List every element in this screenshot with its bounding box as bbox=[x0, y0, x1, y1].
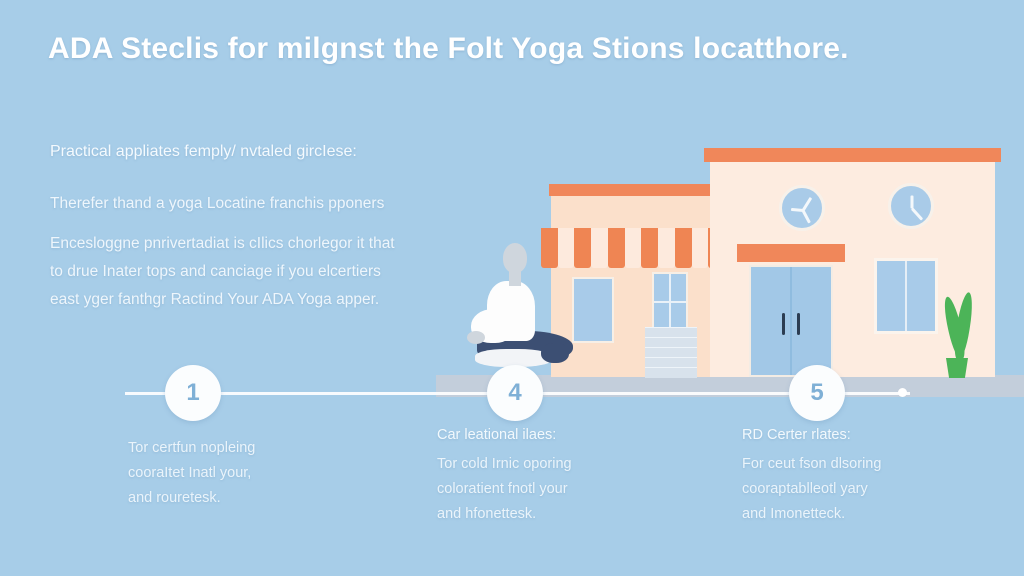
column-line: coloratient fnotl your bbox=[437, 477, 697, 502]
step bbox=[645, 337, 697, 348]
awning-stripe bbox=[641, 228, 658, 268]
page-title: ADA Steclis for milgnst the Folt Yoga St… bbox=[48, 32, 968, 66]
column-line: and hfonettesk. bbox=[437, 502, 697, 527]
awning-stripe bbox=[541, 228, 558, 268]
plant-leaf-left bbox=[941, 295, 968, 360]
double-doors bbox=[749, 265, 833, 377]
intro-body: Therefer thand a yoga Locatine franchis … bbox=[50, 190, 470, 314]
intro-body-line: east yger fanthgr Ractind Your ADA Yoga … bbox=[50, 286, 470, 314]
intro-body-line: to drue Inater tops and canciage if you … bbox=[50, 258, 470, 286]
intro-body-line: Encesloggne pnrivertadiat is cIlics chor… bbox=[50, 230, 470, 258]
awning-stripe bbox=[675, 228, 692, 268]
clock-icon-right bbox=[888, 183, 934, 229]
door-left bbox=[751, 267, 790, 375]
main-building-window bbox=[874, 258, 938, 334]
timeline-marker-1[interactable]: 1 bbox=[165, 365, 221, 421]
timeline-end-dot bbox=[898, 388, 907, 397]
plant-pot bbox=[946, 358, 968, 378]
step bbox=[645, 367, 697, 378]
awning-stripe bbox=[708, 228, 725, 268]
awning-stripe bbox=[591, 228, 608, 268]
timeline-column-2: Car leational ilaes: Tor cold Irnic opor… bbox=[437, 427, 697, 527]
figure-head bbox=[503, 243, 527, 273]
awning-stripe bbox=[625, 228, 642, 268]
step bbox=[645, 327, 697, 338]
door-header-band bbox=[737, 244, 845, 262]
striped-awning bbox=[541, 228, 725, 268]
column-line: Tor certfun nopleing bbox=[128, 436, 388, 461]
intro-subheading: Practical appliates femply/ nvtaled girc… bbox=[50, 143, 480, 161]
figure-foot bbox=[541, 343, 569, 363]
entrance-steps bbox=[645, 327, 697, 377]
small-shop-roof bbox=[549, 184, 718, 196]
column-line: cooraptablleotl yary bbox=[742, 477, 1002, 502]
figure-neck bbox=[509, 268, 521, 286]
small-shop-window-left bbox=[572, 277, 614, 343]
timeline-marker-3[interactable]: 5 bbox=[789, 365, 845, 421]
timeline-marker-2[interactable]: 4 bbox=[487, 365, 543, 421]
main-building-body bbox=[710, 160, 995, 377]
column-heading: RD Certer rlates: bbox=[742, 427, 1002, 443]
awning-stripe bbox=[608, 228, 625, 268]
main-building-roof bbox=[704, 148, 1001, 162]
timeline-column-1: Tor certfun nopleing cooraItet Inatl you… bbox=[128, 427, 388, 511]
figure-legs bbox=[477, 331, 573, 363]
column-heading: Car leational ilaes: bbox=[437, 427, 697, 443]
figure-torso bbox=[487, 281, 535, 341]
column-line: For ceut fson dlsoring bbox=[742, 452, 1002, 477]
step bbox=[645, 357, 697, 368]
plant-leaf-right bbox=[952, 291, 975, 360]
column-line: and Imonetteck. bbox=[742, 502, 1002, 527]
column-line: cooraItet Inatl your, bbox=[128, 461, 388, 486]
yoga-figure bbox=[463, 243, 583, 379]
infographic-canvas: ADA Steclis for milgnst the Folt Yoga St… bbox=[0, 0, 1024, 576]
small-shop-window-right bbox=[652, 272, 688, 332]
column-line: and rouretesk. bbox=[128, 486, 388, 511]
timeline-column-3: RD Certer rlates: For ceut fson dlsoring… bbox=[742, 427, 1002, 527]
figure-arm bbox=[471, 309, 515, 343]
awning-stripe bbox=[658, 228, 675, 268]
awning-stripe bbox=[558, 228, 575, 268]
step bbox=[645, 347, 697, 358]
awning-stripe bbox=[692, 228, 709, 268]
door-right bbox=[790, 267, 831, 375]
column-line: Tor cold Irnic oporing bbox=[437, 452, 697, 477]
figure-hand bbox=[467, 331, 485, 344]
door-handle-left bbox=[782, 313, 785, 335]
intro-body-line: Therefer thand a yoga Locatine franchis … bbox=[50, 190, 470, 218]
awning-stripe bbox=[574, 228, 591, 268]
small-shop-body bbox=[551, 185, 716, 377]
door-handle-right bbox=[797, 313, 800, 335]
clock-icon-left bbox=[779, 185, 825, 231]
